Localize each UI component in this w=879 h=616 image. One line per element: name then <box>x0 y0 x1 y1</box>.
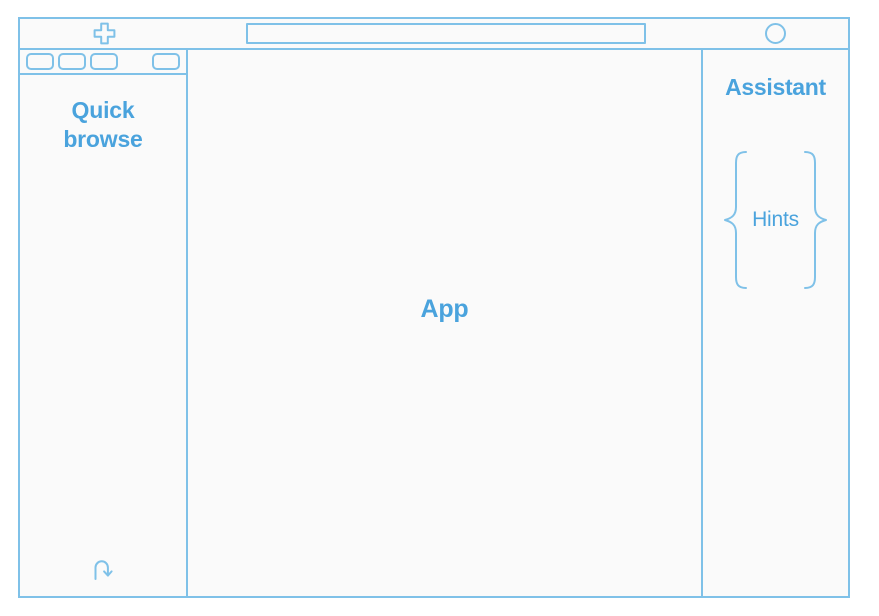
tab-chip-2[interactable] <box>58 53 86 70</box>
sidebar-panel: Quick browse <box>20 50 188 596</box>
app-label: App <box>421 295 469 324</box>
browser-top-bar <box>20 19 848 50</box>
sidebar-tab-strip <box>20 50 186 75</box>
sidebar-content: Quick browse <box>20 75 186 596</box>
tab-chip-4[interactable] <box>152 53 180 70</box>
main-app-panel: App <box>188 50 703 596</box>
left-curly-brace-icon <box>720 149 750 291</box>
hints-label: Hints <box>752 208 799 232</box>
wireframe-canvas: Quick browse App Assistant <box>0 0 879 616</box>
window-body: Quick browse App Assistant <box>20 50 848 596</box>
assistant-panel: Assistant Hints <box>703 50 848 596</box>
plus-icon[interactable] <box>91 20 118 47</box>
circle-avatar-icon[interactable] <box>765 23 786 44</box>
assistant-heading: Assistant <box>725 74 826 101</box>
sidebar-footer[interactable] <box>20 555 186 585</box>
address-bar-region <box>188 19 703 48</box>
hints-block: Hints <box>720 149 831 291</box>
app-window-frame: Quick browse App Assistant <box>18 17 850 598</box>
right-curly-brace-icon <box>801 149 831 291</box>
sidebar-heading-quick-browse: Quick browse <box>63 96 142 155</box>
address-bar-input[interactable] <box>246 23 646 44</box>
tab-chip-3[interactable] <box>90 53 118 70</box>
new-tab-region[interactable] <box>20 19 188 48</box>
tab-chip-1[interactable] <box>26 53 54 70</box>
u-turn-arrow-icon[interactable] <box>88 555 118 585</box>
tab-chip-group <box>26 53 118 70</box>
account-region[interactable] <box>703 19 848 48</box>
